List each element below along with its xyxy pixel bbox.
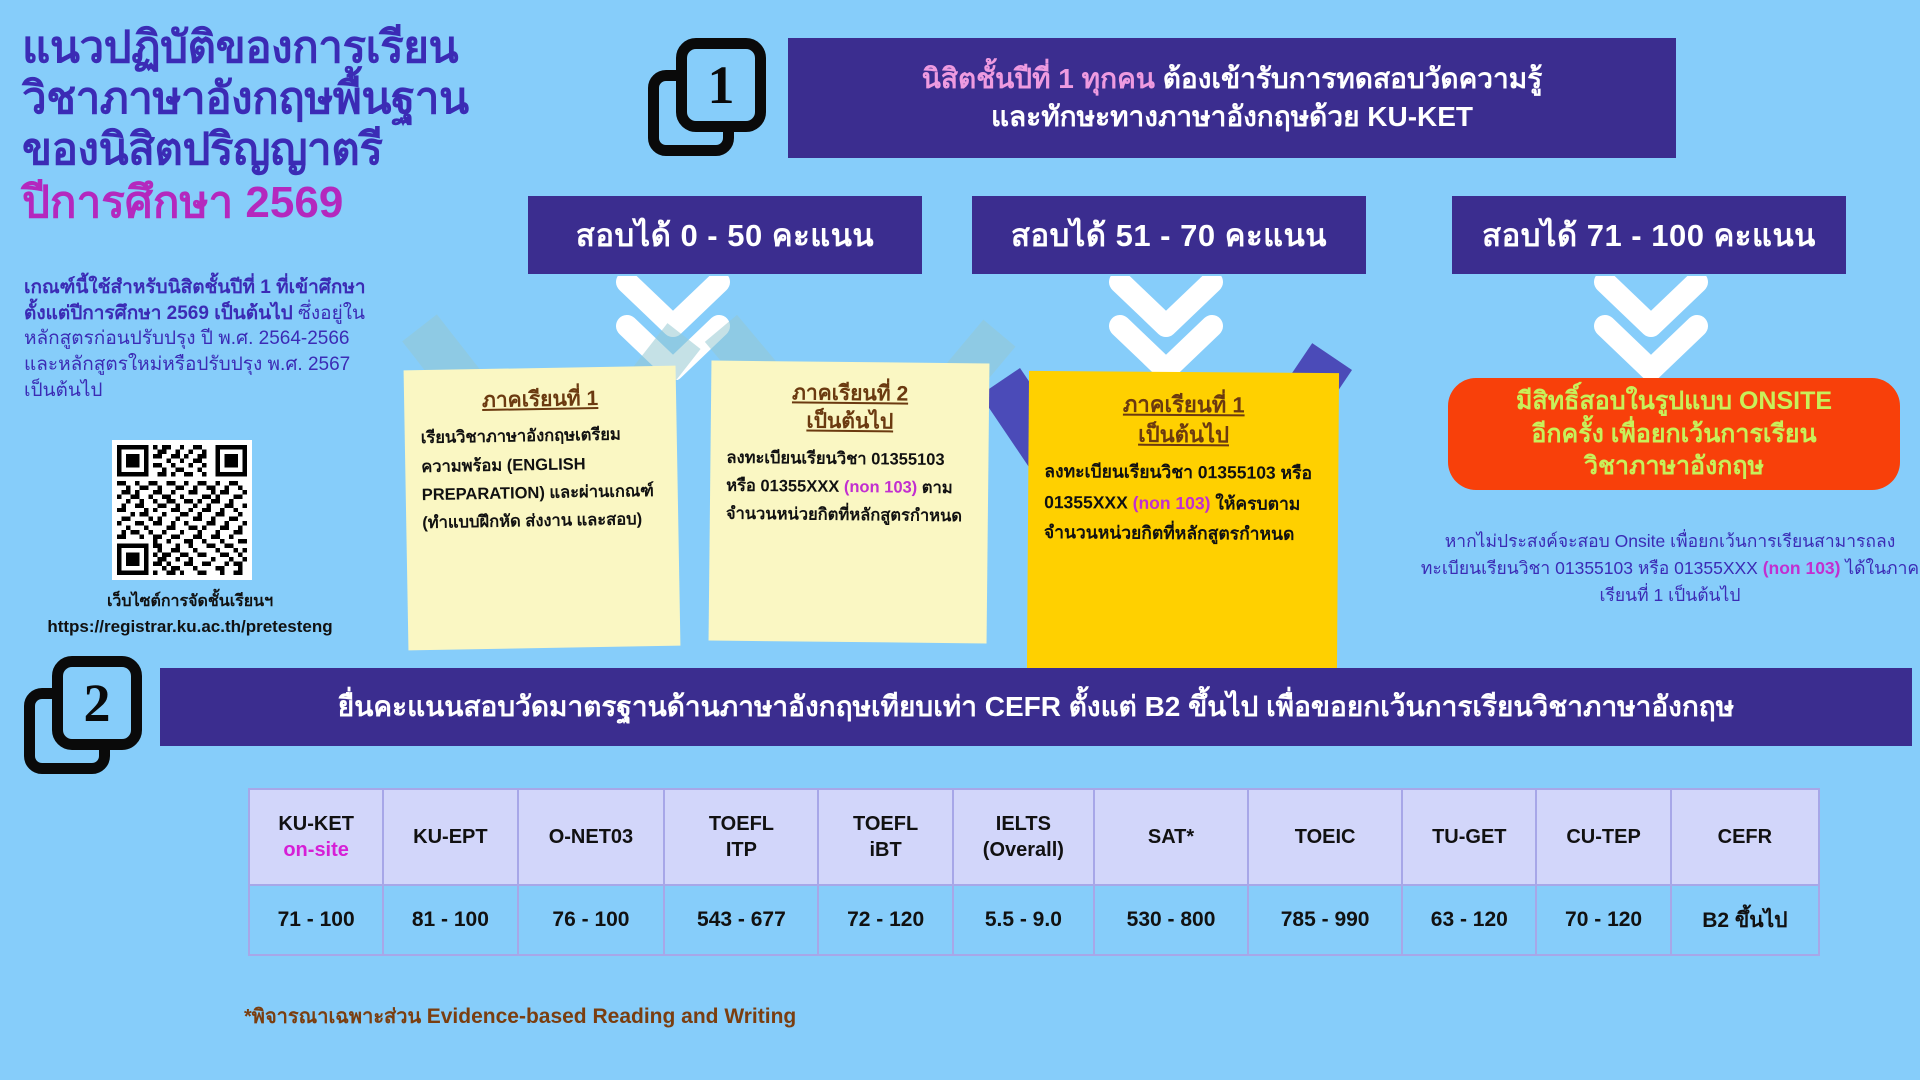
- callout-line-1: มีสิทธิ์สอบในรูปแบบ ONSITE: [1516, 387, 1832, 415]
- section-1-badge: 1: [648, 38, 766, 156]
- title-academic-year: ปีการศึกษา 2569: [22, 177, 542, 230]
- title-line-3: ของนิสิตปริญญาตรี: [22, 124, 542, 175]
- note-body: ลงทะเบียนเรียนวิชา 01355103 หรือ 01355XX…: [1044, 456, 1323, 549]
- sticky-note-semester-1-prep: ภาคเรียนที่ 1 เรียนวิชาภาษาอังกฤษเตรียมค…: [404, 366, 681, 651]
- footnote-thai: *พิจารณาเฉพาะส่วน: [244, 1006, 427, 1028]
- table-header-toeic: TOEIC: [1248, 789, 1402, 885]
- callout-line-2: อีกครั้ง เพื่อยกเว้นการเรียน: [1531, 420, 1816, 448]
- table-header-tu-get: TU-GET: [1402, 789, 1536, 885]
- table-header-cefr: CEFR: [1671, 789, 1819, 885]
- table-header-row: KU-KETon-site KU-EPT O-NET03 TOEFLITP TO…: [249, 789, 1819, 885]
- table-header-cu-tep: CU-TEP: [1536, 789, 1670, 885]
- banner-highlight-text: นิสิตชั้นปีที่ 1 ทุกคน: [922, 63, 1155, 94]
- note-body-highlight: (non 103): [1133, 492, 1211, 513]
- infographic-canvas: แนวปฏิบัติของการเรียน วิชาภาษาอังกฤษพื้น…: [0, 0, 1920, 1080]
- sticky-note-semester-2-onward: ภาคเรียนที่ 2 เป็นต้นไป ลงทะเบียนเรียนวิ…: [709, 361, 990, 644]
- badge-number: 2: [84, 676, 111, 730]
- qr-code[interactable]: [112, 440, 252, 580]
- header-line-2: on-site: [250, 837, 382, 863]
- subtitle-line-4: และหลักสูตรใหม่หรือปรับปรุง พ.ศ. 2567: [24, 352, 424, 378]
- header-line-1: IELTS: [996, 813, 1051, 835]
- onsite-callout-subtext: หากไม่ประสงค์จะสอบ Onsite เพื่อยกเว้นการ…: [1420, 528, 1920, 609]
- note-heading: ภาคเรียนที่ 1 เป็นต้นไป: [1045, 389, 1323, 450]
- subtitle-bold-1: เกณฑ์นี้ใช้สำหรับนิสิตชั้นปีที่ 1 ที่เข้…: [24, 275, 424, 301]
- score-box-51-70: สอบได้ 51 - 70 คะแนน: [972, 196, 1366, 274]
- cefr-equivalency-table: KU-KETon-site KU-EPT O-NET03 TOEFLITP TO…: [248, 788, 1820, 956]
- onsite-callout: มีสิทธิ์สอบในรูปแบบ ONSITE อีกครั้ง เพื่…: [1448, 378, 1900, 490]
- note-heading: ภาคเรียนที่ 1: [420, 384, 660, 417]
- table-cell-ku-ept: 81 - 100: [383, 885, 517, 955]
- table-footnote: *พิจารณาเฉพาะส่วน Evidence-based Reading…: [244, 1000, 796, 1032]
- note-heading-line-2: เป็นต้นไป: [1138, 421, 1229, 447]
- table-cell-toefl-itp: 543 - 677: [664, 885, 818, 955]
- banner-line-2: และทักษะทางภาษาอังกฤษด้วย KU-KET: [991, 101, 1473, 132]
- title-line-2: วิชาภาษาอังกฤษพื้นฐาน: [22, 73, 542, 124]
- table-header-o-net03: O-NET03: [518, 789, 665, 885]
- qr-code-graphic: [117, 445, 247, 575]
- subtitle-bold-2: ตั้งแต่ปีการศึกษา 2569 เป็นต้นไป: [24, 303, 293, 324]
- page-title: แนวปฏิบัติของการเรียน วิชาภาษาอังกฤษพื้น…: [22, 22, 542, 230]
- table-cell-ielts: 5.5 - 9.0: [953, 885, 1094, 955]
- table-header-toefl-ibt: TOEFLiBT: [818, 789, 952, 885]
- note-heading-line-1: ภาคเรียนที่ 1: [1123, 392, 1245, 418]
- header-line-1: TU-GET: [1432, 826, 1506, 848]
- header-line-2: ITP: [726, 839, 757, 861]
- note-heading-line-1: ภาคเรียนที่ 2: [792, 381, 908, 405]
- note-body: ลงทะเบียนเรียนวิชา 01355103 หรือ 01355XX…: [726, 443, 973, 531]
- chevron-down-icon: [1106, 276, 1226, 380]
- subtitle-line-3: หลักสูตรก่อนปรับปรุง ปี พ.ศ. 2564-2566: [24, 326, 424, 352]
- table-header-ku-ket: KU-KETon-site: [249, 789, 383, 885]
- header-line-1: O-NET03: [549, 826, 633, 848]
- callout-line-3: วิชาภาษาอังกฤษ: [1584, 452, 1764, 480]
- table-header-ku-ept: KU-EPT: [383, 789, 517, 885]
- section-1-banner: นิสิตชั้นปีที่ 1 ทุกคน ต้องเข้ารับการทดส…: [788, 38, 1676, 158]
- table-header-ielts: IELTS(Overall): [953, 789, 1094, 885]
- header-line-1: TOEIC: [1295, 826, 1356, 848]
- table-cell-o-net03: 76 - 100: [518, 885, 665, 955]
- section-2-badge: 2: [24, 656, 142, 774]
- title-line-1: แนวปฏิบัติของการเรียน: [22, 22, 542, 73]
- table-cell-ku-ket: 71 - 100: [249, 885, 383, 955]
- badge-number: 1: [708, 58, 735, 112]
- note-heading: ภาคเรียนที่ 2 เป็นต้นไป: [727, 379, 974, 438]
- score-box-0-50: สอบได้ 0 - 50 คะแนน: [528, 196, 922, 274]
- subtitle-block: เกณฑ์นี้ใช้สำหรับนิสิตชั้นปีที่ 1 ที่เข้…: [24, 275, 424, 403]
- table-cell-cu-tep: 70 - 120: [1536, 885, 1670, 955]
- chevron-down-icon: [1591, 276, 1711, 380]
- header-line-1: CEFR: [1718, 826, 1772, 848]
- subtitle-line-5: เป็นต้นไป: [24, 378, 424, 404]
- header-line-2: iBT: [870, 839, 902, 861]
- banner-rest-text: ต้องเข้ารับการทดสอบวัดความรู้: [1155, 63, 1542, 94]
- header-line-2: (Overall): [983, 839, 1064, 861]
- subtitle-norm-2: ซึ่งอยู่ใน: [293, 303, 365, 324]
- table-cell-tu-get: 63 - 120: [1402, 885, 1536, 955]
- section-2-banner-text: ยื่นคะแนนสอบวัดมาตรฐานด้านภาษาอังกฤษเทีย…: [338, 685, 1734, 729]
- website-url[interactable]: https://registrar.ku.ac.th/pretesteng: [10, 614, 370, 640]
- badge-front-layer: 2: [52, 656, 142, 750]
- header-line-1: CU-TEP: [1566, 826, 1640, 848]
- table-header-sat: SAT*: [1094, 789, 1248, 885]
- score-box-label: สอบได้ 0 - 50 คะแนน: [576, 210, 874, 260]
- score-box-71-100: สอบได้ 71 - 100 คะแนน: [1452, 196, 1846, 274]
- score-box-label: สอบได้ 71 - 100 คะแนน: [1482, 210, 1816, 260]
- table-cell-toeic: 785 - 990: [1248, 885, 1402, 955]
- note-body-highlight: (non 103): [844, 478, 918, 497]
- table-cell-cefr: B2 ขึ้นไป: [1671, 885, 1819, 955]
- table-cell-sat: 530 - 800: [1094, 885, 1248, 955]
- table-header-toefl-itp: TOEFLITP: [664, 789, 818, 885]
- table-row: 71 - 100 81 - 100 76 - 100 543 - 677 72 …: [249, 885, 1819, 955]
- header-line-1: TOEFL: [709, 813, 774, 835]
- header-line-1: TOEFL: [853, 813, 918, 835]
- header-line-1: SAT*: [1148, 826, 1194, 848]
- section-2-banner: ยื่นคะแนนสอบวัดมาตรฐานด้านภาษาอังกฤษเทีย…: [160, 668, 1912, 746]
- sticky-note-semester-1-onward: ภาคเรียนที่ 1 เป็นต้นไป ลงทะเบียนเรียนวิ…: [1027, 371, 1339, 671]
- callout-sub-highlight: (non 103): [1763, 558, 1841, 578]
- footnote-english: Evidence-based Reading and Writing: [427, 1005, 797, 1028]
- badge-front-layer: 1: [676, 38, 766, 132]
- website-caption: เว็บไซต์การจัดชั้นเรียนฯ: [10, 590, 370, 614]
- header-line-1: KU-KET: [278, 813, 354, 835]
- website-caption-block: เว็บไซต์การจัดชั้นเรียนฯ https://registr…: [10, 590, 370, 640]
- note-heading-line-2: เป็นต้นไป: [806, 410, 893, 434]
- header-line-1: KU-EPT: [413, 826, 487, 848]
- note-body: เรียนวิชาภาษาอังกฤษเตรียมความพร้อม (ENGL…: [421, 420, 663, 538]
- table-cell-toefl-ibt: 72 - 120: [818, 885, 952, 955]
- score-box-label: สอบได้ 51 - 70 คะแนน: [1011, 210, 1327, 260]
